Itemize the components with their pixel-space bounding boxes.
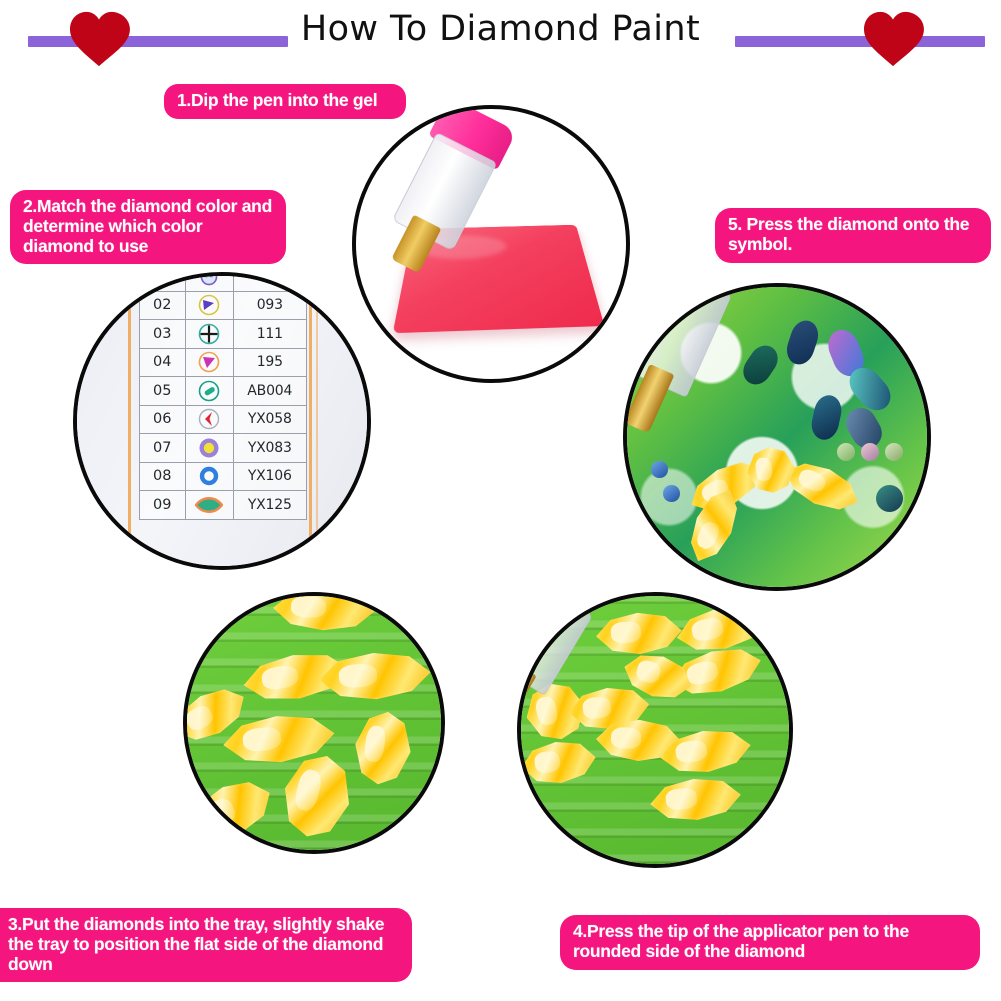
table-row: 02 093 — [140, 291, 307, 320]
step-3-label: 3.Put the diamonds into the tray, slight… — [0, 908, 412, 982]
rhinestone — [837, 443, 855, 461]
table-row: 09 YX125 — [140, 491, 307, 520]
step-5-label: 5. Press the diamond onto the symbol. — [715, 208, 991, 263]
plus-cross-symbol — [185, 320, 233, 349]
row-code: YX106 — [233, 462, 307, 491]
rhinestone — [861, 443, 879, 461]
table-row: 01 028 — [140, 272, 307, 291]
row-number: 01 — [140, 272, 186, 291]
row-number: 06 — [140, 405, 186, 434]
diamond-gem — [673, 598, 771, 659]
left-chevron-symbol — [185, 405, 233, 434]
step-1-photo — [352, 105, 630, 383]
rhinestone — [876, 485, 903, 512]
row-code: 195 — [233, 348, 307, 377]
color-code-chart-photo: 01 028 02 093 03 — [77, 276, 367, 566]
row-number: 04 — [140, 348, 186, 377]
row-number: 03 — [140, 320, 186, 349]
table-row: 08 YX106 — [140, 462, 307, 491]
capsule-bar-symbol — [185, 377, 233, 406]
triangle-corner-symbol — [185, 348, 233, 377]
two-dots-circle-symbol — [185, 272, 233, 291]
table-row: 06 YX058 — [140, 405, 307, 434]
pen-picking-up-diamond-photo — [521, 596, 789, 864]
step-5-photo — [623, 283, 931, 591]
chart-margin-line — [316, 276, 318, 566]
step-2-label: 2.Match the diamond color and determine … — [10, 190, 286, 264]
row-number: 08 — [140, 462, 186, 491]
chart-margin-line — [309, 276, 312, 566]
infographic-canvas: How To Diamond Paint 1.Dip the pen into … — [0, 0, 1001, 1001]
diamond-gem — [318, 648, 433, 704]
row-code: AB004 — [233, 377, 307, 406]
triangle-corner-symbol — [185, 291, 233, 320]
diamonds-in-tray-photo — [187, 596, 441, 850]
rhinestone — [663, 485, 680, 502]
diamond-gem — [595, 609, 684, 658]
row-number: 02 — [140, 291, 186, 320]
table-row: 04 195 — [140, 348, 307, 377]
row-number: 05 — [140, 377, 186, 406]
step-4-label: 4.Press the tip of the applicator pen to… — [560, 915, 980, 970]
row-code: YX125 — [233, 491, 307, 520]
table-row: 03 111 — [140, 320, 307, 349]
rhinestone — [651, 461, 668, 478]
pen-tip — [517, 664, 537, 721]
step-4-photo — [517, 592, 793, 868]
page-title: How To Diamond Paint — [0, 9, 1001, 49]
diamond-gem — [274, 747, 359, 847]
diamond-gem — [273, 592, 376, 633]
row-code: 093 — [233, 291, 307, 320]
dot-in-ring-symbol — [185, 434, 233, 463]
table-row: 07 YX083 — [140, 434, 307, 463]
placing-diamond-on-canvas-photo — [627, 287, 927, 587]
row-code: 028 — [233, 272, 307, 291]
rhinestone — [885, 443, 903, 461]
diamond-gem — [518, 736, 598, 789]
diamond-gem — [648, 774, 743, 826]
table-row: 05 AB004 — [140, 377, 307, 406]
row-code: 111 — [233, 320, 307, 349]
step-3-photo — [183, 592, 445, 854]
pen-tip — [623, 364, 674, 433]
row-code: YX058 — [233, 405, 307, 434]
row-number: 07 — [140, 434, 186, 463]
row-code: YX083 — [233, 434, 307, 463]
step-2-photo: 01 028 02 093 03 — [73, 272, 371, 570]
pen-dipping-into-gel-photo — [356, 109, 626, 379]
color-code-table: 01 028 02 093 03 — [139, 272, 307, 520]
open-ring-symbol — [185, 462, 233, 491]
diamond-gem — [350, 707, 416, 790]
row-number: 09 — [140, 491, 186, 520]
leaf-eye-symbol — [185, 491, 233, 520]
chart-margin-line — [128, 276, 131, 566]
diamond-gem — [185, 770, 280, 849]
